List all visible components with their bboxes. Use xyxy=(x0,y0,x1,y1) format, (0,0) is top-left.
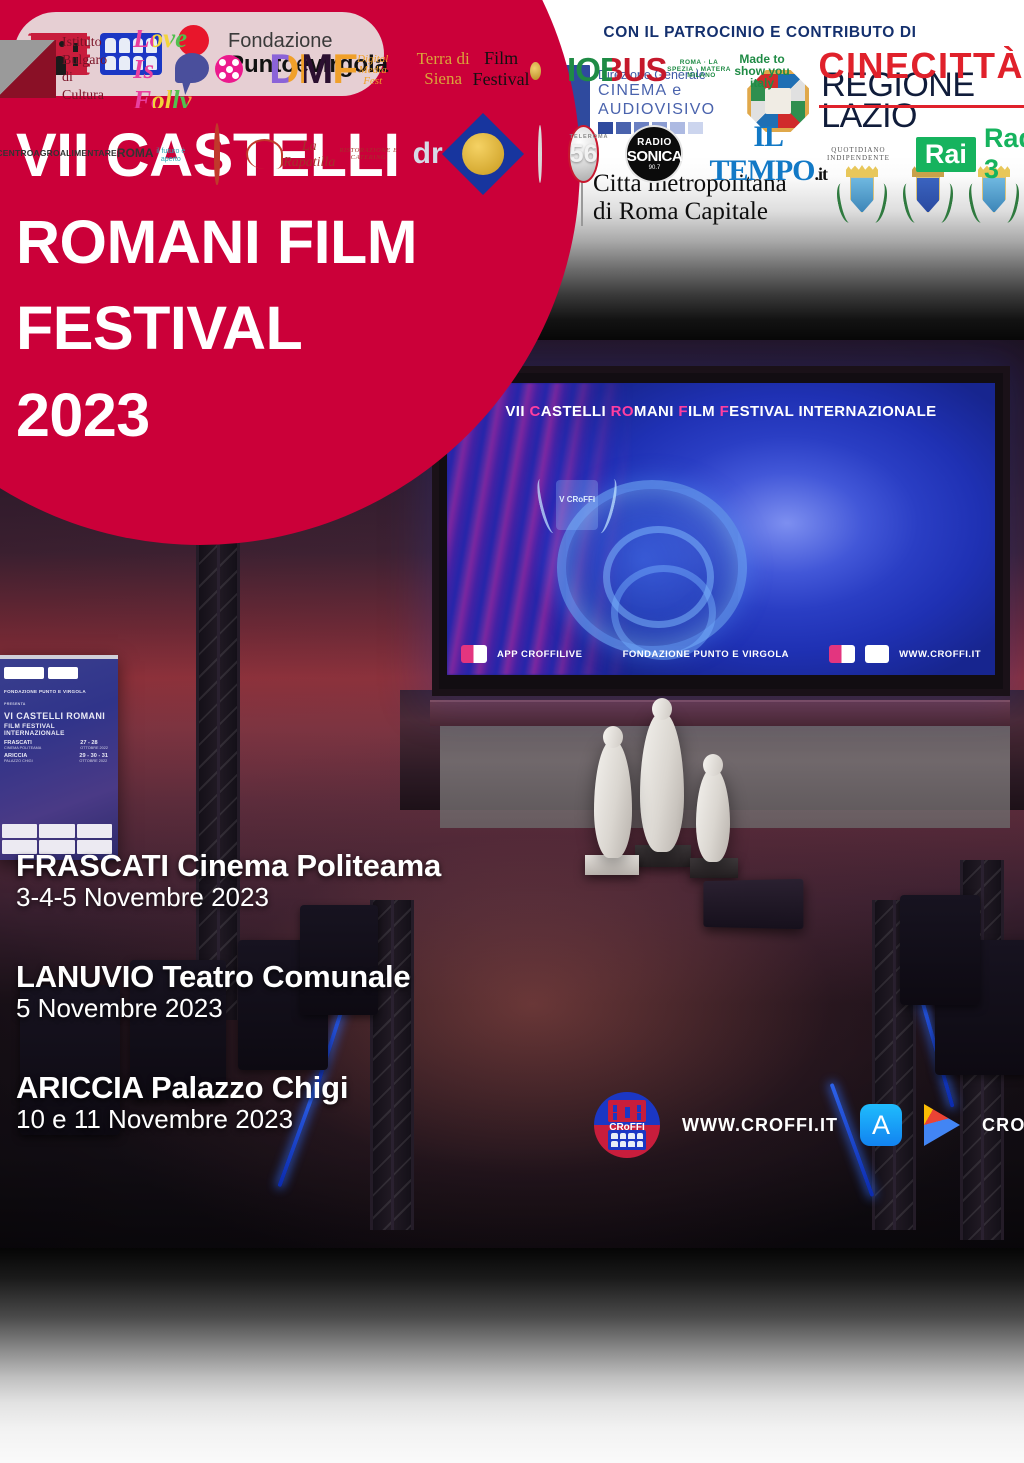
screen-foundation-label: FONDAZIONE PUNTO E VIRGOLA xyxy=(623,649,789,660)
title-line-2: ROMANI FILM xyxy=(16,199,536,286)
website-link[interactable]: WWW.CROFFI.IT xyxy=(682,1115,838,1136)
tempo-suffix: .it xyxy=(814,164,827,184)
national-service-logo xyxy=(454,118,512,190)
rollup-banner: FONDAZIONE PUNTO E VIRGOLA PRESENTA VI C… xyxy=(0,655,118,860)
sonica-line-2: SONICA xyxy=(627,148,682,165)
tele-radio-stereo-logo: TELE RADIO STEREO 92.7 xyxy=(538,125,542,183)
il-tempo-logo: IL TEMPO.it QUOTIDIANO INDIPENDENTE xyxy=(709,118,889,190)
rollup-subtitle: FILM FESTIVAL INTERNAZIONALE xyxy=(0,721,118,737)
venue-item-lanuvio: LANUVIO Teatro Comunale 5 Novembre 2023 xyxy=(16,959,576,1024)
tempo-wordmark: IL TEMPO xyxy=(709,120,814,187)
croffi-live-icon xyxy=(461,645,487,663)
trs-line-1: TELE xyxy=(538,139,542,147)
chair-silhouette xyxy=(900,895,980,1005)
footer-sponsors-row-1: Istituto Bulgaro di Cultura Love Is Foll… xyxy=(0,30,1024,108)
iobus-logo: IOBUS ROMA · LA SPEZIA · MATERA · MILANO… xyxy=(567,30,792,108)
terra-di-siena-film-festival-logo: Terra di Siena Film Festival xyxy=(414,30,541,108)
laurel-label: V CRoFFI xyxy=(556,496,598,505)
statue-plinth-left xyxy=(585,855,639,875)
title-line-3: FESTIVAL xyxy=(16,285,536,372)
stage-monitor-speaker xyxy=(703,879,803,929)
venue-name: ARICCIA Palazzo Chigi xyxy=(16,1070,576,1106)
venue-dates: 10 e 11 Novembre 2023 xyxy=(16,1104,576,1135)
terra-line-1: Terra di Siena xyxy=(414,49,472,88)
cmrc-line-2: di Roma Capitale xyxy=(593,198,787,226)
digital-media-fest-logo: DMF Digital Media Fest xyxy=(269,30,388,108)
venue-dates: 5 Novembre 2023 xyxy=(16,993,576,1024)
venue-list: FRASCATI Cinema Politeama 3-4-5 Novembre… xyxy=(16,848,576,1181)
rollup-row: ARICCIAPALAZZO CHIGI 29 - 30 - 31OTTOBRE… xyxy=(0,750,118,763)
trs-line-2: RADIO xyxy=(538,147,542,155)
film-reel-icon xyxy=(215,55,243,83)
screen-app-label: APP CROFFILIVE xyxy=(497,649,582,660)
venue-name: LANUVIO Teatro Comunale xyxy=(16,959,576,995)
rollup-presents: PRESENTA xyxy=(0,694,118,706)
centro-agroalimentare-roma-logo: CENTRO AGROALIMENTARE ROMA il futuro è a… xyxy=(0,118,188,190)
terra-coin-icon xyxy=(530,62,541,80)
screen-footer-bar: APP CROFFILIVE FONDAZIONE PUNTO E VIRGOL… xyxy=(447,645,995,663)
croffi-logo-icon[interactable]: CRoFFI xyxy=(594,1092,660,1158)
istituto-bulgaro-di-cultura-logo: Istituto Bulgaro di Cultura xyxy=(0,30,107,108)
rai-radio-3-logo: Rai Radio 3 xyxy=(916,118,1024,190)
venue-item-frascati: FRASCATI Cinema Politeama 3-4-5 Novembre… xyxy=(16,848,576,913)
terra-line-2: Film Festival xyxy=(472,48,530,89)
title-line-4: 2023 xyxy=(16,372,536,459)
rollup-row: FRASCATICINEMA POLITEAMA 27 - 28OTTOBRE … xyxy=(0,737,118,750)
wall-molding xyxy=(430,700,1010,726)
iobus-wordmark: IOBUS xyxy=(567,53,667,86)
rollup-logos xyxy=(0,659,118,681)
sonica-line-1: RADIO xyxy=(637,137,672,148)
car-line-2: AGROALIMENTARE xyxy=(34,149,117,158)
app-store-icon[interactable] xyxy=(860,1104,902,1146)
teleroma-56-logo: TELEROMA 56 xyxy=(568,125,600,183)
rollup-title: VI CASTELLI ROMANI xyxy=(0,706,118,721)
screen-castle-icon xyxy=(829,645,855,663)
globe-icon xyxy=(462,133,504,175)
cinecitta-logo: CINECITTÀ xyxy=(819,30,1024,108)
google-play-icon[interactable] xyxy=(924,1104,960,1146)
trs-line-3: STEREO xyxy=(538,155,542,163)
screen-cinema-icon xyxy=(865,645,889,663)
venue-name: FRASCATI Cinema Politeama xyxy=(16,848,576,884)
radio-sonica-logo: RADIO SONICA 90.7 xyxy=(625,125,683,183)
love-is-folly-label: Love Is Folly xyxy=(133,23,209,116)
iobus-tagline: Made to show you italy xyxy=(732,53,793,89)
tempo-tagline: QUOTIDIANO INDIPENDENTE xyxy=(827,146,890,162)
bulgaro-line-3: Cultura xyxy=(62,87,107,105)
chef-hat-icon xyxy=(246,139,283,169)
app-links-row: CRoFFI WWW.CROFFI.IT CROFFI xyxy=(594,1092,1024,1158)
footer-sponsors-row-2: CENTRO AGROALIMENTARE ROMA il futuro è a… xyxy=(0,118,1024,190)
la-rapatilla-logo: La Rapatilla RISTORAZIONE E CATERING xyxy=(246,118,402,190)
screen-site-label: WWW.CROFFI.IT xyxy=(899,649,981,660)
car-line-3: ROMA xyxy=(117,147,154,160)
rollup-header: FONDAZIONE PUNTO E VIRGOLA xyxy=(0,681,118,694)
laurel-award-icon: V CRoFFI xyxy=(540,474,614,540)
rapatilla-name: La Rapatilla xyxy=(283,139,335,171)
sonica-frequency: 90.7 xyxy=(649,165,661,171)
rapatilla-tagline: RISTORAZIONE E CATERING xyxy=(335,147,401,161)
bulgaro-emblem-icon xyxy=(0,40,56,98)
venue-item-ariccia: ARICCIA Palazzo Chigi 10 e 11 Novembre 2… xyxy=(16,1070,576,1135)
love-is-folly-logo: Love Is Folly xyxy=(133,30,243,108)
dmf-name: Digital Media Fest xyxy=(357,54,388,87)
festival-poster: VII CASTELLI ROMANI FILM FESTIVAL INTERN… xyxy=(0,0,1024,1463)
trs-frequency: 92.7 xyxy=(538,162,542,169)
teleroma-label: TELEROMA xyxy=(570,134,598,140)
teleroma-number: 56 xyxy=(570,140,598,169)
consorzio-vini-frascati-logo xyxy=(214,123,220,185)
rai-box-label: Rai xyxy=(916,137,976,172)
rai-radio-label: Radio 3 xyxy=(984,123,1024,185)
bulgaro-line-1: Istituto xyxy=(62,34,107,52)
app-name-label: CROFFI xyxy=(982,1115,1024,1136)
iobus-cities: ROMA · LA SPEZIA · MATERA · MILANO xyxy=(667,60,732,80)
venue-dates: 3-4-5 Novembre 2023 xyxy=(16,882,576,913)
national-service-diamond-icon xyxy=(442,113,524,195)
footer-sponsor-band xyxy=(0,1248,1024,1463)
car-line-1: CENTRO xyxy=(0,149,34,158)
dmf-abbr: DMF xyxy=(269,48,357,90)
car-tagline: il futuro è aperto xyxy=(154,148,188,163)
bulgaro-line-2: Bulgaro di xyxy=(62,52,107,87)
